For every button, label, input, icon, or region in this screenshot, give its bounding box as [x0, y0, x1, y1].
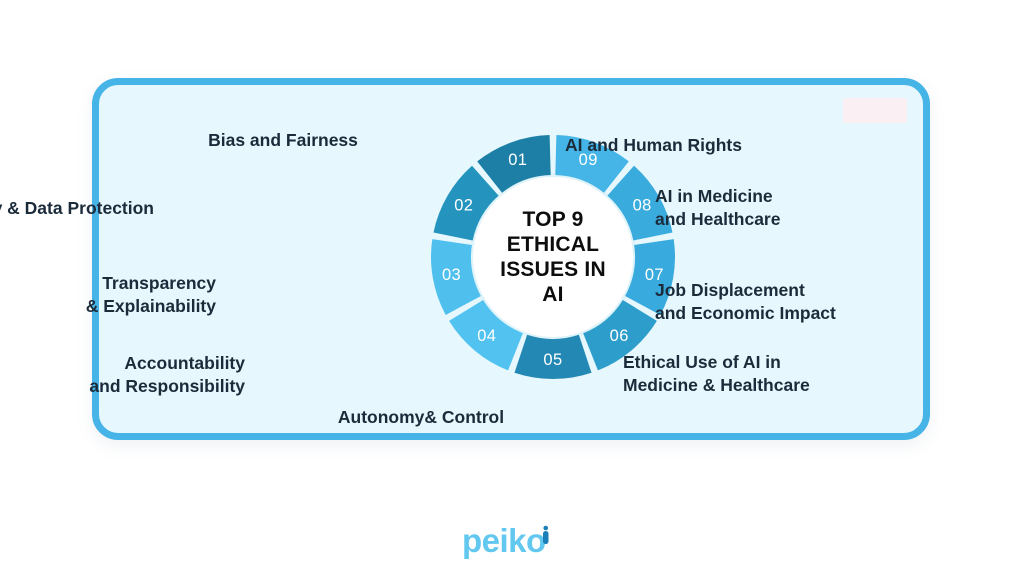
label-accountability-responsibility: Accountabilityand Responsibility — [89, 352, 245, 398]
label-ethical-use-of-ai-line-2: Medicine & Healthcare — [623, 374, 810, 397]
label-bias-and-fairness-line-1: Bias and Fairness — [208, 129, 358, 152]
donut-inner-disc — [473, 177, 633, 337]
label-ai-in-medicine-healthcare-line-2: and Healthcare — [655, 208, 780, 231]
label-accountability-responsibility-line-2: and Responsibility — [89, 375, 245, 398]
peiko-logo: peiko — [0, 512, 1024, 572]
label-ethical-use-of-ai-line-1: Ethical Use of AI in — [623, 351, 810, 374]
label-privacy-data-protection: Privacy & Data Protection — [0, 197, 154, 220]
peiko-logo-wordmark: peiko — [462, 522, 546, 559]
donut-segment-number-01: 01 — [508, 151, 527, 169]
label-accountability-responsibility-line-1: Accountability — [89, 352, 245, 375]
label-ai-and-human-rights-line-1: AI and Human Rights — [565, 134, 742, 157]
donut-segment-number-02: 02 — [454, 197, 473, 215]
donut-segment-number-08: 08 — [633, 197, 652, 215]
label-autonomy-control-line-1: Autonomy& Control — [338, 406, 504, 429]
donut-segment-number-05: 05 — [543, 351, 562, 369]
donut-segment-number-06: 06 — [610, 327, 629, 345]
label-ethical-use-of-ai: Ethical Use of AI inMedicine & Healthcar… — [623, 351, 810, 397]
label-transparency-explainability-line-2: & Explainability — [86, 295, 216, 318]
infographic-card: 010203040506070809 TOP 9ETHICALISSUES IN… — [92, 78, 930, 440]
decorative-pink-rectangle — [843, 98, 907, 123]
label-transparency-explainability-line-1: Transparency — [86, 272, 216, 295]
peiko-logo-svg: peiko — [460, 519, 564, 565]
label-ai-and-human-rights: AI and Human Rights — [565, 134, 742, 157]
donut-segment-number-04: 04 — [477, 327, 496, 345]
label-transparency-explainability: Transparency& Explainability — [86, 272, 216, 318]
label-bias-and-fairness: Bias and Fairness — [208, 129, 358, 152]
donut-chart: 010203040506070809 TOP 9ETHICALISSUES IN… — [428, 132, 678, 382]
label-job-displacement-line-2: and Economic Impact — [655, 302, 836, 325]
donut-chart-svg: 010203040506070809 — [428, 132, 678, 382]
label-ai-in-medicine-healthcare-line-1: AI in Medicine — [655, 185, 780, 208]
peiko-logo-accent-dot — [543, 526, 548, 531]
label-ai-in-medicine-healthcare: AI in Medicineand Healthcare — [655, 185, 780, 231]
label-privacy-data-protection-line-1: Privacy & Data Protection — [0, 197, 154, 220]
peiko-logo-accent-mark — [543, 531, 549, 544]
donut-segment-number-03: 03 — [442, 266, 461, 284]
label-autonomy-control: Autonomy& Control — [338, 406, 504, 429]
label-job-displacement-line-1: Job Displacement — [655, 279, 836, 302]
label-job-displacement: Job Displacementand Economic Impact — [655, 279, 836, 325]
